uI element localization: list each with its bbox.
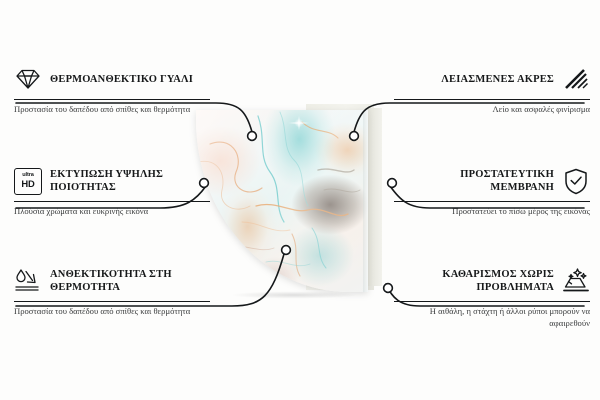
feature-title: ΛΕΙΑΣΜΕΝΕΣ ΑΚΡΕΣ xyxy=(394,73,554,86)
callout-dot-easy-cleaning xyxy=(384,284,393,293)
feature-polished-edges: ΛΕΙΑΣΜΕΝΕΣ ΑΚΡΕΣ Λείο και ασφαλές φινίρι… xyxy=(394,62,590,116)
callout-dot-heatproof-glass xyxy=(248,132,257,141)
feature-description: Προστατεύει το πίσω μέρος της εικόνας xyxy=(394,206,590,218)
feature-header: ultra HD ΕΚΤΥΠΩΣΗ ΥΨΗΛΗΣ ΠΟΙΟΤΗΤΑΣ xyxy=(14,164,210,198)
feature-title: ΑΝΘΕΚΤΙΚΟΤΗΤΑ ΣΤΗ ΘΕΡΜΟΤΗΤΑ xyxy=(50,268,210,294)
infographic-canvas: ΘΕΡΜΟΑΝΘΕΚΤΙΚΟ ΓΥΑΛΙ Προστασία του δαπέδ… xyxy=(0,0,600,400)
diamond-icon xyxy=(14,65,42,93)
feature-header: ΚΑΘΑΡΙΣΜΟΣ ΧΩΡΙΣ ΠΡΟΒΛΗΜΑΤΑ xyxy=(394,264,590,298)
feature-divider xyxy=(14,201,210,202)
hd-label: HD xyxy=(21,179,34,188)
feature-header: ΑΝΘΕΚΤΙΚΟΤΗΤΑ ΣΤΗ ΘΕΡΜΟΤΗΤΑ xyxy=(14,264,210,298)
ultra-hd-icon: ultra HD xyxy=(14,167,42,195)
shield-check-icon xyxy=(562,167,590,195)
feature-header: ΠΡΟΣΤΑΤΕΥΤΙΚΗ ΜΕΜΒΡΑΝΗ xyxy=(394,164,590,198)
feature-description: Πλούσια χρώματα και ευκρινής εικόνα xyxy=(14,206,210,218)
feature-divider xyxy=(14,99,210,100)
feature-title: ΚΑΘΑΡΙΣΜΟΣ ΧΩΡΙΣ ΠΡΟΒΛΗΜΑΤΑ xyxy=(394,268,554,294)
feature-title: ΠΡΟΣΤΑΤΕΥΤΙΚΗ ΜΕΜΒΡΑΝΗ xyxy=(394,168,554,194)
feature-print-quality: ultra HD ΕΚΤΥΠΩΣΗ ΥΨΗΛΗΣ ΠΟΙΟΤΗΤΑΣ Πλούσ… xyxy=(14,164,210,218)
feature-divider xyxy=(394,99,590,100)
feature-protective-film: ΠΡΟΣΤΑΤΕΥΤΙΚΗ ΜΕΜΒΡΑΝΗ Προστατεύει το πί… xyxy=(394,164,590,218)
feature-description: Προστασία του δαπέδου από σπίθες και θερ… xyxy=(14,306,210,318)
feature-divider xyxy=(394,201,590,202)
feature-description: Λείο και ασφαλές φινίρισμα xyxy=(394,104,590,116)
feature-description: Η αιθάλη, η στάχτη ή άλλοι ρύποι μπορούν… xyxy=(394,306,590,329)
callout-dot-heat-resistance xyxy=(282,246,291,255)
feature-heat-resistance: ΑΝΘΕΚΤΙΚΟΤΗΤΑ ΣΤΗ ΘΕΡΜΟΤΗΤΑ Προστασία το… xyxy=(14,264,210,318)
sponge-sparkle-icon xyxy=(562,267,590,295)
callout-dot-polished-edges xyxy=(350,132,359,141)
feature-divider xyxy=(394,301,590,302)
feature-header: ΘΕΡΜΟΑΝΘΕΚΤΙΚΟ ΓΥΑΛΙ xyxy=(14,62,210,96)
feature-divider xyxy=(14,301,210,302)
feature-title: ΘΕΡΜΟΑΝΘΕΚΤΙΚΟ ΓΥΑΛΙ xyxy=(50,73,210,86)
diagonal-lines-icon xyxy=(562,65,590,93)
feature-heatproof-glass: ΘΕΡΜΟΑΝΘΕΚΤΙΚΟ ΓΥΑΛΙ Προστασία του δαπέδ… xyxy=(14,62,210,116)
feature-header: ΛΕΙΑΣΜΕΝΕΣ ΑΚΡΕΣ xyxy=(394,62,590,96)
feature-title: ΕΚΤΥΠΩΣΗ ΥΨΗΛΗΣ ΠΟΙΟΤΗΤΑΣ xyxy=(50,168,210,194)
feature-easy-cleaning: ΚΑΘΑΡΙΣΜΟΣ ΧΩΡΙΣ ΠΡΟΒΛΗΜΑΤΑ Η αιθάλη, η … xyxy=(394,264,590,329)
feature-description: Προστασία του δαπέδου από σπίθες και θερ… xyxy=(14,104,210,116)
flame-deflect-icon xyxy=(14,267,42,295)
